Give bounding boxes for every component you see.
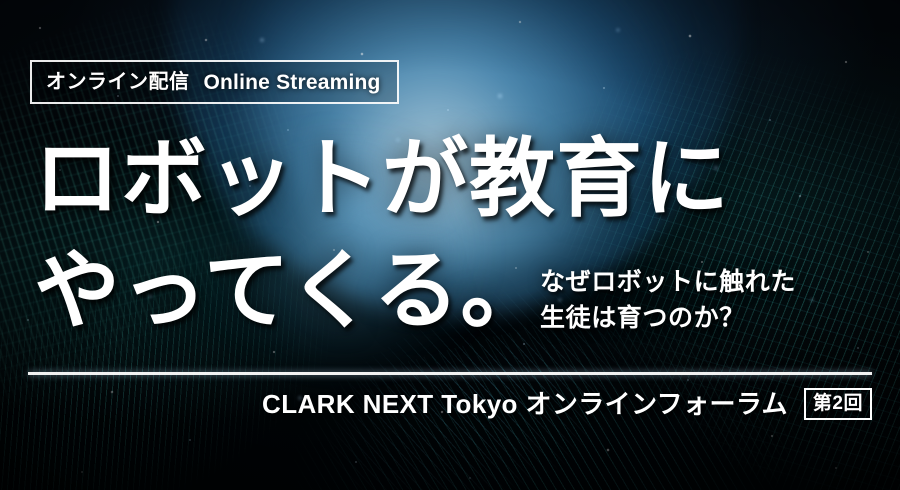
streaming-badge-en-label: Online Streaming — [204, 72, 381, 93]
subheadline-line-1: なぜロボットに触れた — [540, 265, 796, 301]
streaming-badge-jp-label: オンライン配信 — [46, 72, 190, 92]
subheadline: なぜロボットに触れた 生徒は育つのか？ — [540, 265, 796, 336]
event-banner: オンライン配信 Online Streaming ロボットが教育に やってくる。… — [0, 0, 900, 490]
footer-event-title: CLARK NEXT Tokyo オンラインフォーラム — [262, 391, 788, 417]
subheadline-line-2: 生徒は育つのか？ — [540, 301, 796, 337]
streaming-badge: オンライン配信 Online Streaming — [30, 60, 399, 104]
headline-line-1: ロボットが教育に — [34, 131, 730, 227]
horizontal-rule — [28, 372, 872, 375]
banner-content: オンライン配信 Online Streaming ロボットが教育に やってくる。… — [0, 0, 900, 490]
footer-bar: CLARK NEXT Tokyo オンラインフォーラム 第2回 — [0, 388, 872, 420]
footer-edition-chip: 第2回 — [804, 388, 872, 420]
